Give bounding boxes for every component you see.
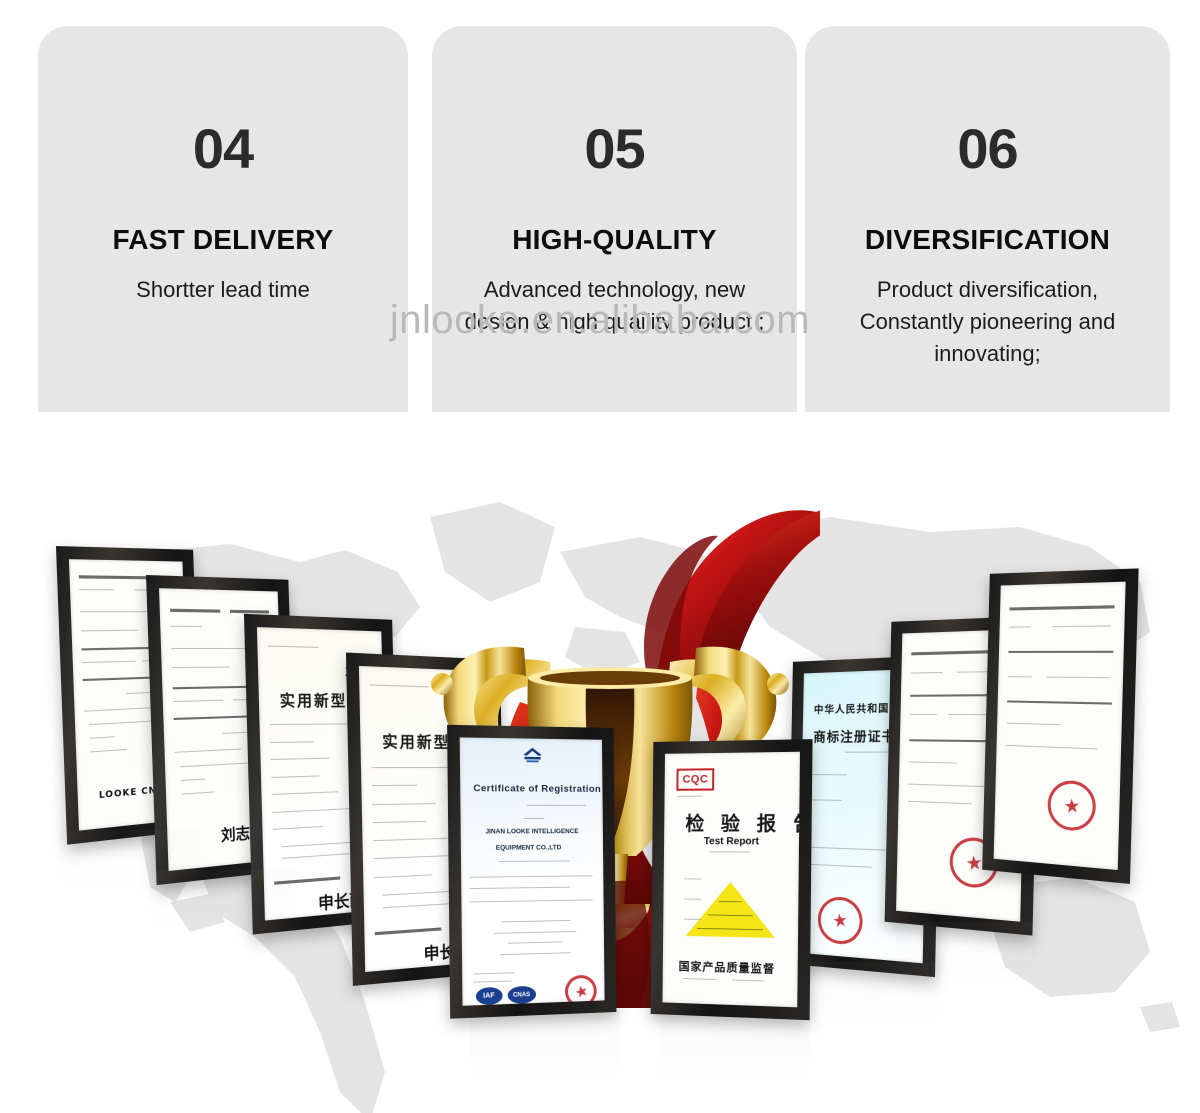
test-report-footer-cn: 国家产品质量监督 [679, 958, 776, 977]
feature-card-06: 06 DIVERSIFICATION Product diversificati… [805, 26, 1170, 412]
feature-card-description: Product diversification, Constantly pion… [833, 256, 1143, 370]
trademark-certificate-title-1: 中华人民共和国 [814, 699, 890, 716]
certificate-title: Certificate of Registration [473, 783, 601, 795]
yellow-triangle-graphic-icon [681, 861, 779, 958]
certificate-company-line-2: EQUIPMENT CO.,LTD [496, 844, 562, 852]
test-report-title-en: Test Report [704, 836, 759, 847]
test-report-title-cn: 检 验 报 告 [685, 808, 800, 836]
feature-card-description: Shortter lead time [68, 256, 378, 306]
certificate-frame-iso-registration: Certificate of Registration JINAN LOOKE … [447, 725, 616, 1019]
feature-card-number: 05 [432, 26, 797, 177]
feature-card-title: DIVERSIFICATION [805, 177, 1170, 256]
trademark-certificate-title-2: 商标注册证书 [813, 725, 896, 746]
feature-card-05: 05 HIGH-QUALITY Advanced technology, new… [432, 26, 797, 412]
red-official-stamp [815, 894, 866, 946]
cnas-accreditation-mark: CNAS [507, 986, 536, 1004]
cqc-logo-icon: CQC [676, 768, 714, 791]
feature-card-title: HIGH-QUALITY [432, 177, 797, 256]
awards-showcase-section: LOOKE CNC 刘志学 [0, 432, 1200, 1113]
red-official-stamp [1046, 780, 1098, 832]
iaf-accreditation-mark: IAF [475, 987, 502, 1005]
feature-card-description: Advanced technology, new design & high q… [460, 256, 770, 338]
feature-card-title: FAST DELIVERY [38, 177, 408, 256]
certificate-frame-test-report: CQC 检 验 报 告 Test Report 国家产品质量监督 [651, 739, 813, 1020]
feature-card-04: 04 FAST DELIVERY Shortter lead time [38, 26, 408, 412]
feature-card-number: 04 [38, 26, 408, 177]
certificate-paper: Certificate of Registration JINAN LOOKE … [460, 737, 605, 1005]
certificate-paper: CQC 检 验 报 告 Test Report 国家产品质量监督 [662, 752, 800, 1008]
certificate-paper [994, 582, 1126, 870]
feature-card-number: 06 [805, 26, 1170, 177]
red-certification-stamp [561, 971, 600, 1006]
certificate-frame-right-3 [982, 568, 1138, 884]
feature-cards-section: 04 FAST DELIVERY Shortter lead time 05 H… [0, 0, 1200, 440]
certificate-company-line-1: JINAN LOOKE INTELLIGENCE [485, 828, 578, 835]
certification-body-logo-icon [521, 746, 545, 765]
